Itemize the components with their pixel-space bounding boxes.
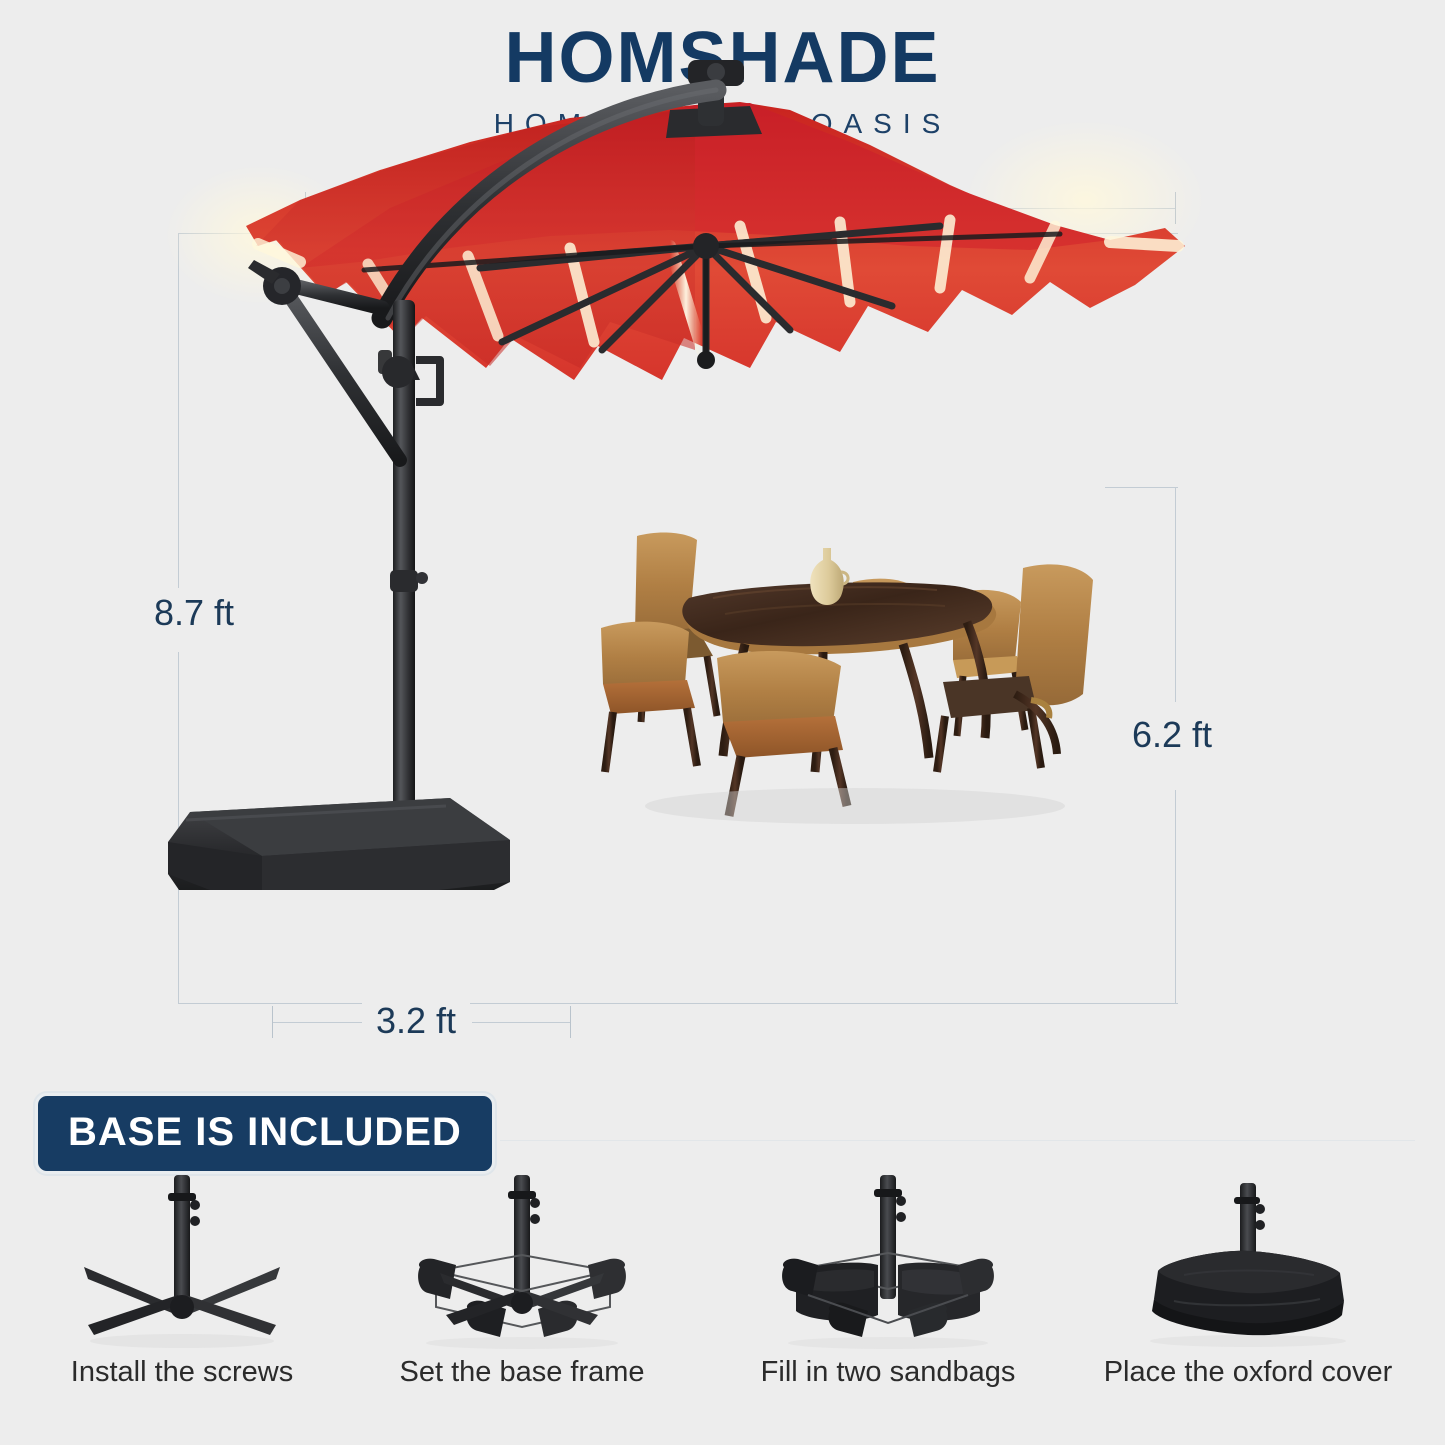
assembly-step-1: Install the screws [32,1175,332,1389]
dimension-line-base-left [272,1022,372,1023]
sandbags-icon [738,1175,1038,1350]
cross-base-frame-icon [32,1175,332,1350]
assembly-step-3-label: Fill in two sandbags [738,1356,1038,1389]
patio-dining-set-illustration [585,510,1145,840]
assembly-step-1-label: Install the screws [32,1356,332,1389]
oxford-cover-icon [1098,1175,1398,1350]
dimension-tick-base-left [272,1006,273,1038]
base-included-badge: BASE IS INCLUDED [35,1093,495,1174]
assembly-step-4-label: Place the oxford cover [1098,1356,1398,1389]
assembly-steps: Install the screws [0,1175,1445,1425]
dimension-label-base-width: 3.2 ft [362,1000,470,1042]
assembly-step-2-label: Set the base frame [372,1356,672,1389]
umbrella-base-illustration [168,798,510,890]
assembly-step-3: Fill in two sandbags [738,1175,1038,1389]
dimension-tick-base-right [570,1006,571,1038]
base-tray-icon [372,1175,672,1350]
product-infographic: HOMSHADE HOME SHADE OASIS 10 ft 8.7 ft 6… [0,0,1445,1445]
guide-line-bottom-outer [178,1003,1178,1004]
assembly-step-2: Set the base frame [372,1175,672,1389]
assembly-step-4: Place the oxford cover [1098,1175,1398,1389]
chair-front-left [601,622,697,772]
dimension-line-base-right [472,1022,570,1023]
badge-separator-line [500,1140,1415,1141]
